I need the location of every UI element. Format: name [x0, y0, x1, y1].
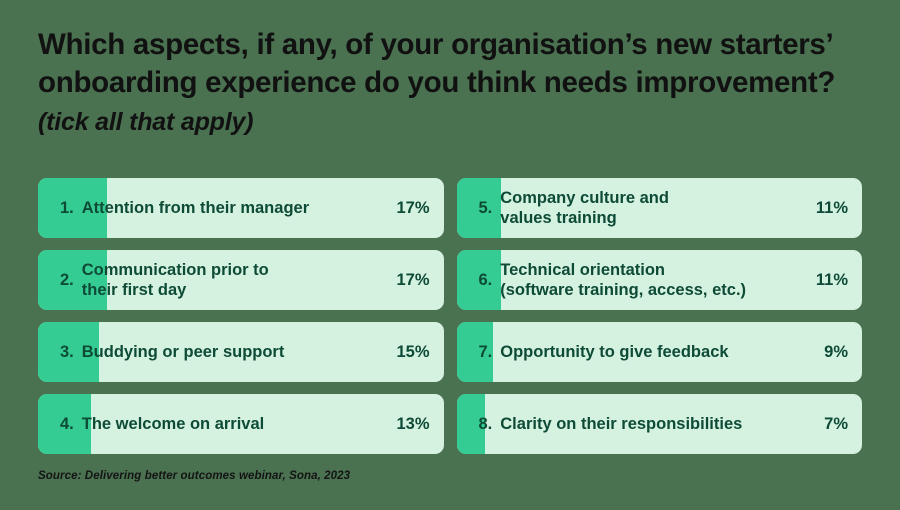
- bar-row: 1. Attention from their manager 17%: [38, 178, 444, 238]
- source-note: Source: Delivering better outcomes webin…: [38, 470, 350, 482]
- page-title: Which aspects, if any, of your organisat…: [38, 26, 848, 141]
- bar-content: 8. Clarity on their responsibilities 7%: [457, 414, 863, 434]
- bar-rank: 7.: [479, 342, 493, 362]
- bar-label: Company culture and values training: [500, 188, 808, 228]
- bar-row: 4. The welcome on arrival 13%: [38, 394, 444, 454]
- bar-rank: 1.: [60, 198, 74, 218]
- bar-label: Technical orientation (software training…: [500, 260, 808, 300]
- bar-row: 8. Clarity on their responsibilities 7%: [457, 394, 863, 454]
- bar-column-left: 1. Attention from their manager 17% 2. C…: [38, 178, 444, 456]
- page-title-qualifier: (tick all that apply): [38, 108, 253, 136]
- bar-row: 7. Opportunity to give feedback 9%: [457, 322, 863, 382]
- bar-rank: 5.: [479, 198, 493, 218]
- bar-value: 15%: [396, 342, 429, 362]
- bar-label: Buddying or peer support: [82, 342, 389, 362]
- bar-value: 11%: [816, 270, 848, 290]
- bar-row: 2. Communication prior to their first da…: [38, 250, 444, 310]
- bar-rank: 2.: [60, 270, 74, 290]
- page-title-main: Which aspects, if any, of your organisat…: [38, 28, 835, 99]
- bar-content: 7. Opportunity to give feedback 9%: [457, 342, 863, 362]
- bar-content: 1. Attention from their manager 17%: [38, 198, 444, 218]
- bar-column-right: 5. Company culture and values training 1…: [457, 178, 863, 456]
- bar-value: 13%: [396, 414, 429, 434]
- bar-row: 6. Technical orientation (software train…: [457, 250, 863, 310]
- bar-row: 3. Buddying or peer support 15%: [38, 322, 444, 382]
- bar-rank: 4.: [60, 414, 74, 434]
- bar-label: Communication prior to their first day: [82, 260, 389, 300]
- bar-label: The welcome on arrival: [82, 414, 389, 434]
- bar-value: 11%: [816, 198, 848, 218]
- bar-value: 9%: [824, 342, 848, 362]
- bar-label: Clarity on their responsibilities: [500, 414, 816, 434]
- bar-value: 17%: [396, 198, 429, 218]
- bar-value: 17%: [396, 270, 429, 290]
- bar-columns: 1. Attention from their manager 17% 2. C…: [38, 178, 862, 456]
- bar-rank: 6.: [479, 270, 493, 290]
- bar-label: Attention from their manager: [82, 198, 389, 218]
- bar-value: 7%: [824, 414, 848, 434]
- bar-content: 4. The welcome on arrival 13%: [38, 414, 444, 434]
- bar-content: 5. Company culture and values training 1…: [457, 188, 863, 228]
- bar-content: 2. Communication prior to their first da…: [38, 260, 444, 300]
- bar-label: Opportunity to give feedback: [500, 342, 816, 362]
- bar-content: 3. Buddying or peer support 15%: [38, 342, 444, 362]
- bar-rank: 8.: [479, 414, 493, 434]
- bar-content: 6. Technical orientation (software train…: [457, 260, 863, 300]
- title-block: Which aspects, if any, of your organisat…: [38, 26, 848, 141]
- bar-rank: 3.: [60, 342, 74, 362]
- chart-container: Which aspects, if any, of your organisat…: [0, 0, 900, 510]
- bar-row: 5. Company culture and values training 1…: [457, 178, 863, 238]
